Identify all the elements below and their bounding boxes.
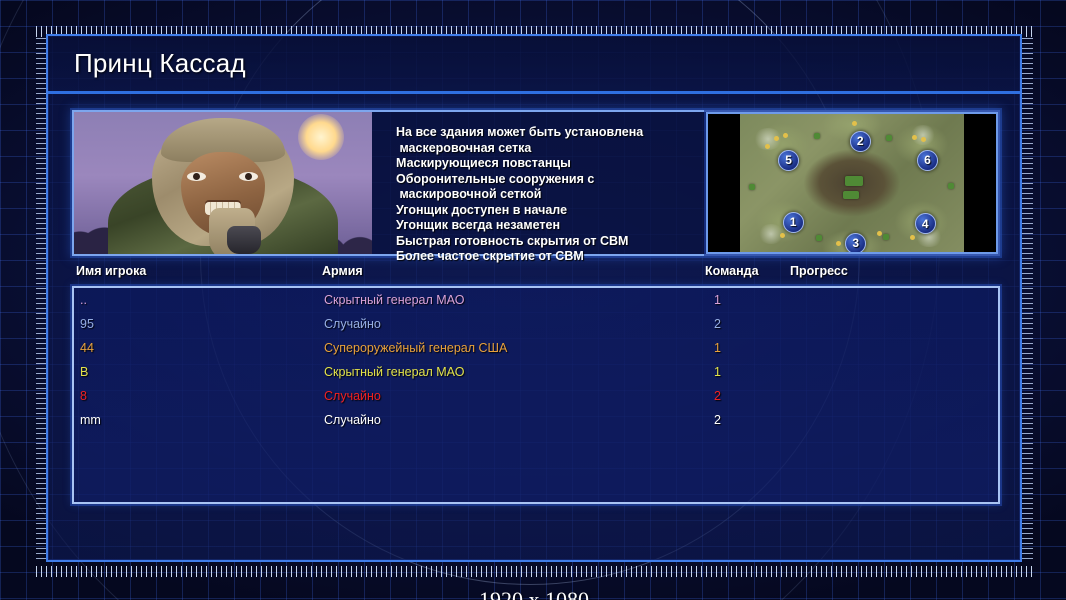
player-table-body: ..Скрытный генерал МАО195Случайно244Супе… — [72, 286, 1000, 504]
map-supply-dock — [877, 231, 882, 236]
page-title: Принц Кассад — [74, 48, 246, 79]
player-name: mm — [80, 413, 101, 427]
map-resource — [948, 183, 954, 189]
player-army: Случайно — [324, 413, 381, 427]
game-screen: Принц Кассад — [0, 0, 1066, 600]
description-line: Угонщик доступен в начале — [396, 203, 696, 219]
map-start-position-5[interactable]: 5 — [778, 150, 799, 171]
description-line: Угонщик всегда незаметен — [396, 218, 696, 234]
player-progress — [792, 319, 982, 330]
column-header-army: Армия — [322, 264, 363, 278]
portrait-canteen — [227, 226, 261, 254]
map-supply-dock — [910, 235, 915, 240]
title-bar: Принц Кассад — [48, 36, 1020, 94]
player-army: Случайно — [324, 317, 381, 331]
player-army: Скрытный генерал МАО — [324, 293, 464, 307]
table-row[interactable]: 95Случайно2 — [74, 312, 998, 336]
player-progress — [792, 343, 982, 354]
player-progress — [792, 367, 982, 378]
map-start-position-6[interactable]: 6 — [917, 150, 938, 171]
column-header-progress: Прогресс — [790, 264, 848, 278]
general-description: На все здания может быть установлена мас… — [372, 112, 706, 254]
map-preview-image: 123456 — [740, 114, 964, 252]
map-resource — [816, 235, 822, 241]
player-name: 8 — [80, 389, 87, 403]
player-team: 1 — [714, 365, 721, 379]
map-start-position-1[interactable]: 1 — [783, 212, 804, 233]
player-name: 95 — [80, 317, 94, 331]
description-line: Более частое скрытие от СВМ — [396, 249, 696, 265]
portrait-sun-icon — [298, 114, 344, 160]
map-resource — [886, 135, 892, 141]
player-name: .. — [80, 293, 87, 307]
map-resource — [883, 234, 889, 240]
map-start-position-4[interactable]: 4 — [915, 213, 936, 234]
description-line: На все здания может быть установлена — [396, 125, 696, 141]
player-table-header: Имя игрока Армия Команда Прогресс — [72, 264, 1000, 284]
column-header-team: Команда — [705, 264, 759, 278]
table-row[interactable]: ..Скрытный генерал МАО1 — [74, 288, 998, 312]
player-team: 2 — [714, 389, 721, 403]
player-army: Скрытный генерал МАО — [324, 365, 464, 379]
ruler-bottom — [36, 566, 1036, 577]
main-frame: Принц Кассад — [46, 34, 1022, 562]
general-info-panel: На все здания может быть установлена мас… — [72, 110, 1000, 256]
player-team: 1 — [714, 341, 721, 355]
table-row[interactable]: BСкрытный генерал МАО1 — [74, 360, 998, 384]
player-team: 2 — [714, 317, 721, 331]
player-progress — [792, 391, 982, 402]
description-line: Быстрая готовность скрытия от СВМ — [396, 234, 696, 250]
map-center-structure — [843, 191, 859, 199]
map-preview-frame[interactable]: 123456 — [706, 112, 998, 254]
map-supply-dock — [836, 241, 841, 246]
portrait-eye-right — [239, 172, 258, 181]
map-supply-dock — [774, 136, 779, 141]
player-team: 1 — [714, 293, 721, 307]
player-army: Супероружейный генерал США — [324, 341, 507, 355]
general-portrait — [74, 112, 372, 254]
map-resource — [814, 133, 820, 139]
portrait-eye-left — [187, 172, 206, 181]
map-supply-dock — [783, 133, 788, 138]
player-army: Случайно — [324, 389, 381, 403]
map-supply-dock — [780, 233, 785, 238]
description-line: Оборонительные сооружения с — [396, 172, 696, 188]
player-progress — [792, 415, 982, 426]
resolution-label: 1920 x 1080 — [48, 587, 1020, 600]
table-row[interactable]: 44Супероружейный генерал США1 — [74, 336, 998, 360]
description-line: Маскирующиеся повстанцы — [396, 156, 696, 172]
description-line: маскировочной сеткой — [396, 187, 696, 203]
map-resource — [749, 184, 755, 190]
player-name: B — [80, 365, 88, 379]
player-progress — [792, 295, 982, 306]
map-start-position-2[interactable]: 2 — [850, 131, 871, 152]
map-start-position-3[interactable]: 3 — [845, 233, 866, 254]
map-supply-dock — [852, 121, 857, 126]
player-team: 2 — [714, 413, 721, 427]
table-row[interactable]: mmСлучайно2 — [74, 408, 998, 432]
map-center-structure — [845, 176, 863, 186]
general-info-inner: На все здания может быть установлена мас… — [72, 110, 1000, 256]
ruler-right — [1022, 38, 1033, 560]
column-header-name: Имя игрока — [76, 264, 146, 278]
description-line: маскеровочная сетка — [396, 141, 696, 157]
table-row[interactable]: 8Случайно2 — [74, 384, 998, 408]
player-name: 44 — [80, 341, 94, 355]
